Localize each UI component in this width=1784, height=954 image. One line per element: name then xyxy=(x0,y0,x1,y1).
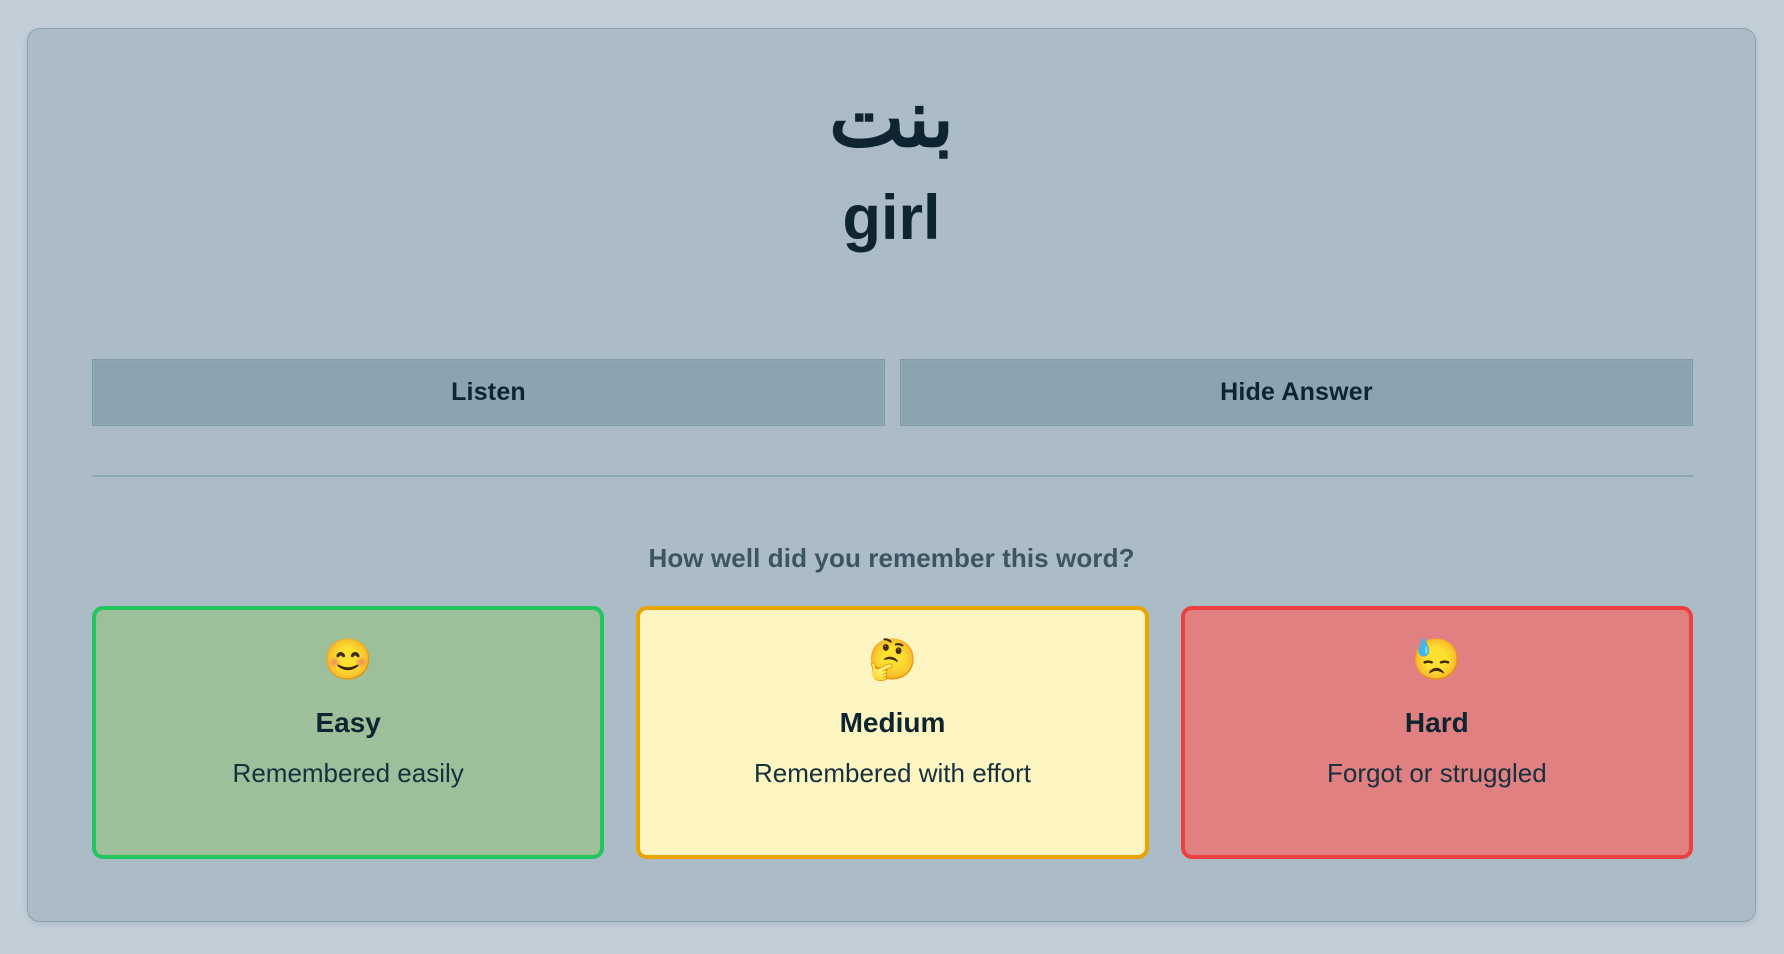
rating-card-medium-description: Remembered with effort xyxy=(640,759,1144,788)
target-word: بنت xyxy=(28,73,1755,165)
translation-word: girl xyxy=(28,185,1755,251)
rating-card-hard[interactable]: 😓 Hard Forgot or struggled xyxy=(1181,606,1693,859)
word-display-area: بنت girl xyxy=(28,29,1755,251)
hide-answer-button[interactable]: Hide Answer xyxy=(900,359,1693,426)
listen-button[interactable]: Listen xyxy=(92,359,885,426)
rating-prompt: How well did you remember this word? xyxy=(28,543,1755,574)
thinking-face-icon: 🤔 xyxy=(640,638,1144,684)
smiling-face-with-smiling-eyes-icon: 😊 xyxy=(96,638,600,684)
action-button-row: Listen Hide Answer xyxy=(92,359,1693,426)
rating-card-easy[interactable]: 😊 Easy Remembered easily xyxy=(92,606,604,859)
rating-card-easy-description: Remembered easily xyxy=(96,759,600,788)
section-divider xyxy=(92,475,1693,477)
rating-card-hard-label: Hard xyxy=(1185,708,1689,739)
rating-card-medium-label: Medium xyxy=(640,708,1144,739)
rating-card-medium[interactable]: 🤔 Medium Remembered with effort xyxy=(636,606,1148,859)
rating-card-row: 😊 Easy Remembered easily 🤔 Medium Rememb… xyxy=(92,606,1693,859)
rating-card-easy-label: Easy xyxy=(96,708,600,739)
downcast-face-with-sweat-icon: 😓 xyxy=(1185,638,1689,684)
rating-card-hard-description: Forgot or struggled xyxy=(1185,759,1689,788)
flashcard-panel: بنت girl Listen Hide Answer How well did… xyxy=(27,28,1756,922)
